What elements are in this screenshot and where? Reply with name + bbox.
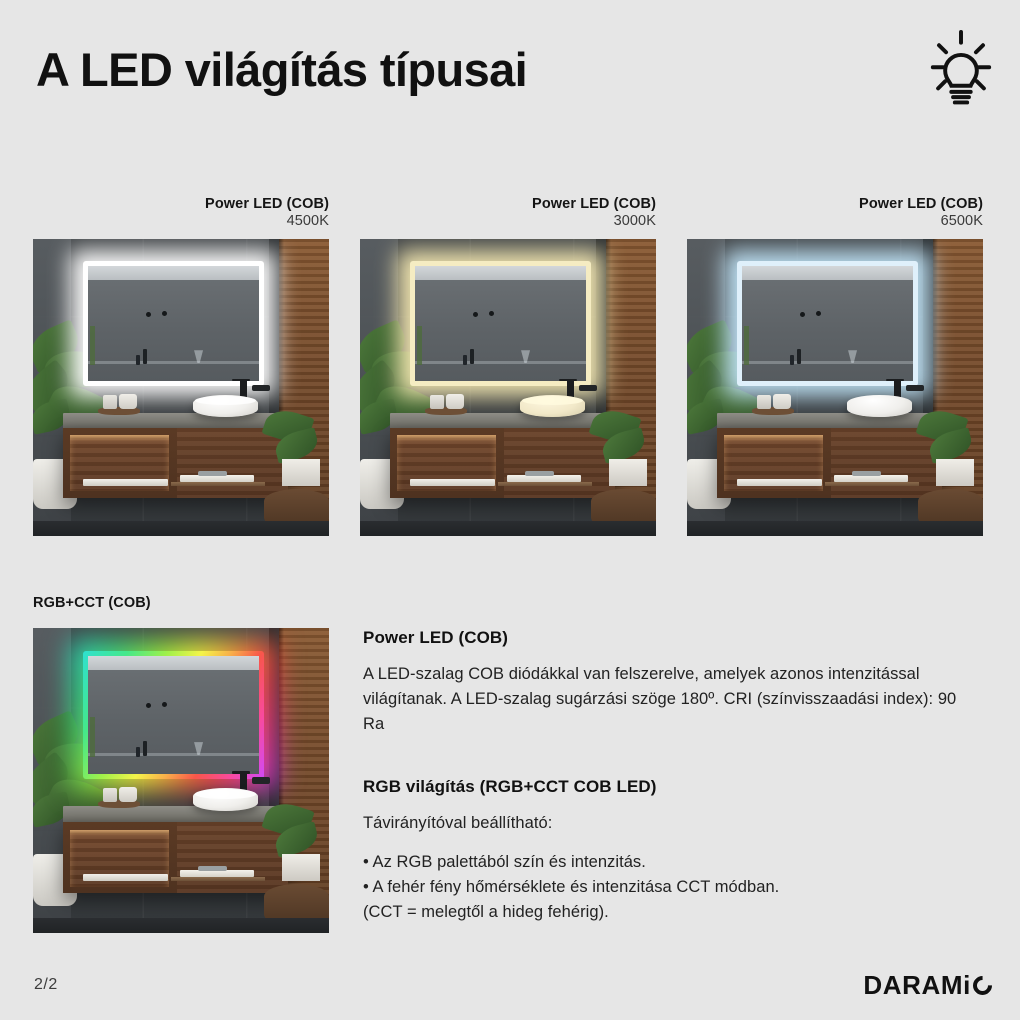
led-mirror	[737, 261, 918, 386]
rgb-block: RGB világítás (RGB+CCT COB LED) Távirány…	[363, 777, 978, 925]
led-card-3000k[interactable]: Power LED (COB) 3000K	[360, 196, 656, 536]
brand-logo: DARAMi	[863, 970, 992, 1001]
rgb-bullet-2: • A fehér fény hőmérséklete és intenzitá…	[363, 875, 978, 900]
led-mirror	[83, 261, 264, 386]
led-card-6500k[interactable]: Power LED (COB) 6500K	[687, 196, 983, 536]
led-card-rgb-cct[interactable]	[33, 628, 329, 933]
mirror-glass	[742, 266, 913, 381]
vanity-countertop	[63, 806, 288, 823]
card-temperature: 6500K	[687, 213, 983, 230]
bathroom-scene-image	[33, 628, 329, 933]
card-temperature: 4500K	[33, 213, 329, 230]
rgb-bullet-1: • Az RGB palettából szín és intenzitás.	[363, 850, 978, 875]
card-caption: Power LED (COB) 3000K	[360, 196, 656, 230]
rgb-card-label: RGB+CCT (COB)	[33, 595, 151, 611]
card-label: Power LED (COB)	[360, 196, 656, 213]
bathroom-scene-image	[360, 239, 656, 536]
lightbulb-icon	[917, 25, 1005, 113]
mirror-glass	[415, 266, 586, 381]
bathroom-scene-image	[687, 239, 983, 536]
description-column: Power LED (COB) A LED-szalag COB diódákk…	[363, 628, 978, 926]
power-led-body: A LED-szalag COB diódákkal van felszerel…	[363, 662, 978, 737]
vanity-cabinet	[717, 428, 942, 498]
vessel-sink	[847, 395, 912, 417]
power-led-heading: Power LED (COB)	[363, 628, 978, 648]
card-caption: Power LED (COB) 4500K	[33, 196, 329, 230]
card-label: Power LED (COB)	[687, 196, 983, 213]
led-mirror	[410, 261, 591, 386]
vanity-cabinet	[390, 428, 615, 498]
vessel-sink	[520, 395, 585, 417]
brand-text: DARAMi	[863, 970, 971, 1001]
page-footer: 2/2 DARAMi	[0, 960, 1020, 1020]
mirror-glass	[88, 656, 259, 774]
brand-circle-icon	[969, 972, 996, 999]
rgb-note: (CCT = melegtől a hideg fehérig).	[363, 900, 978, 925]
led-card-4500k[interactable]: Power LED (COB) 4500K	[33, 196, 329, 536]
rgb-subheading: Távirányítóval beállítható:	[363, 811, 978, 836]
vanity-cabinet	[63, 428, 288, 498]
page-title: A LED világítás típusai	[36, 42, 527, 97]
bathroom-scene-image	[33, 239, 329, 536]
vanity-cabinet	[63, 822, 288, 894]
card-label: Power LED (COB)	[33, 196, 329, 213]
rgb-heading: RGB világítás (RGB+CCT COB LED)	[363, 777, 978, 797]
mirror-glass	[88, 266, 259, 381]
card-caption: Power LED (COB) 6500K	[687, 196, 983, 230]
vessel-sink	[193, 788, 258, 811]
vessel-sink	[193, 395, 258, 417]
page-header: A LED világítás típusai	[0, 0, 1020, 140]
page-number: 2/2	[34, 976, 58, 994]
led-mirror-rgb	[83, 651, 264, 779]
card-temperature: 3000K	[360, 213, 656, 230]
